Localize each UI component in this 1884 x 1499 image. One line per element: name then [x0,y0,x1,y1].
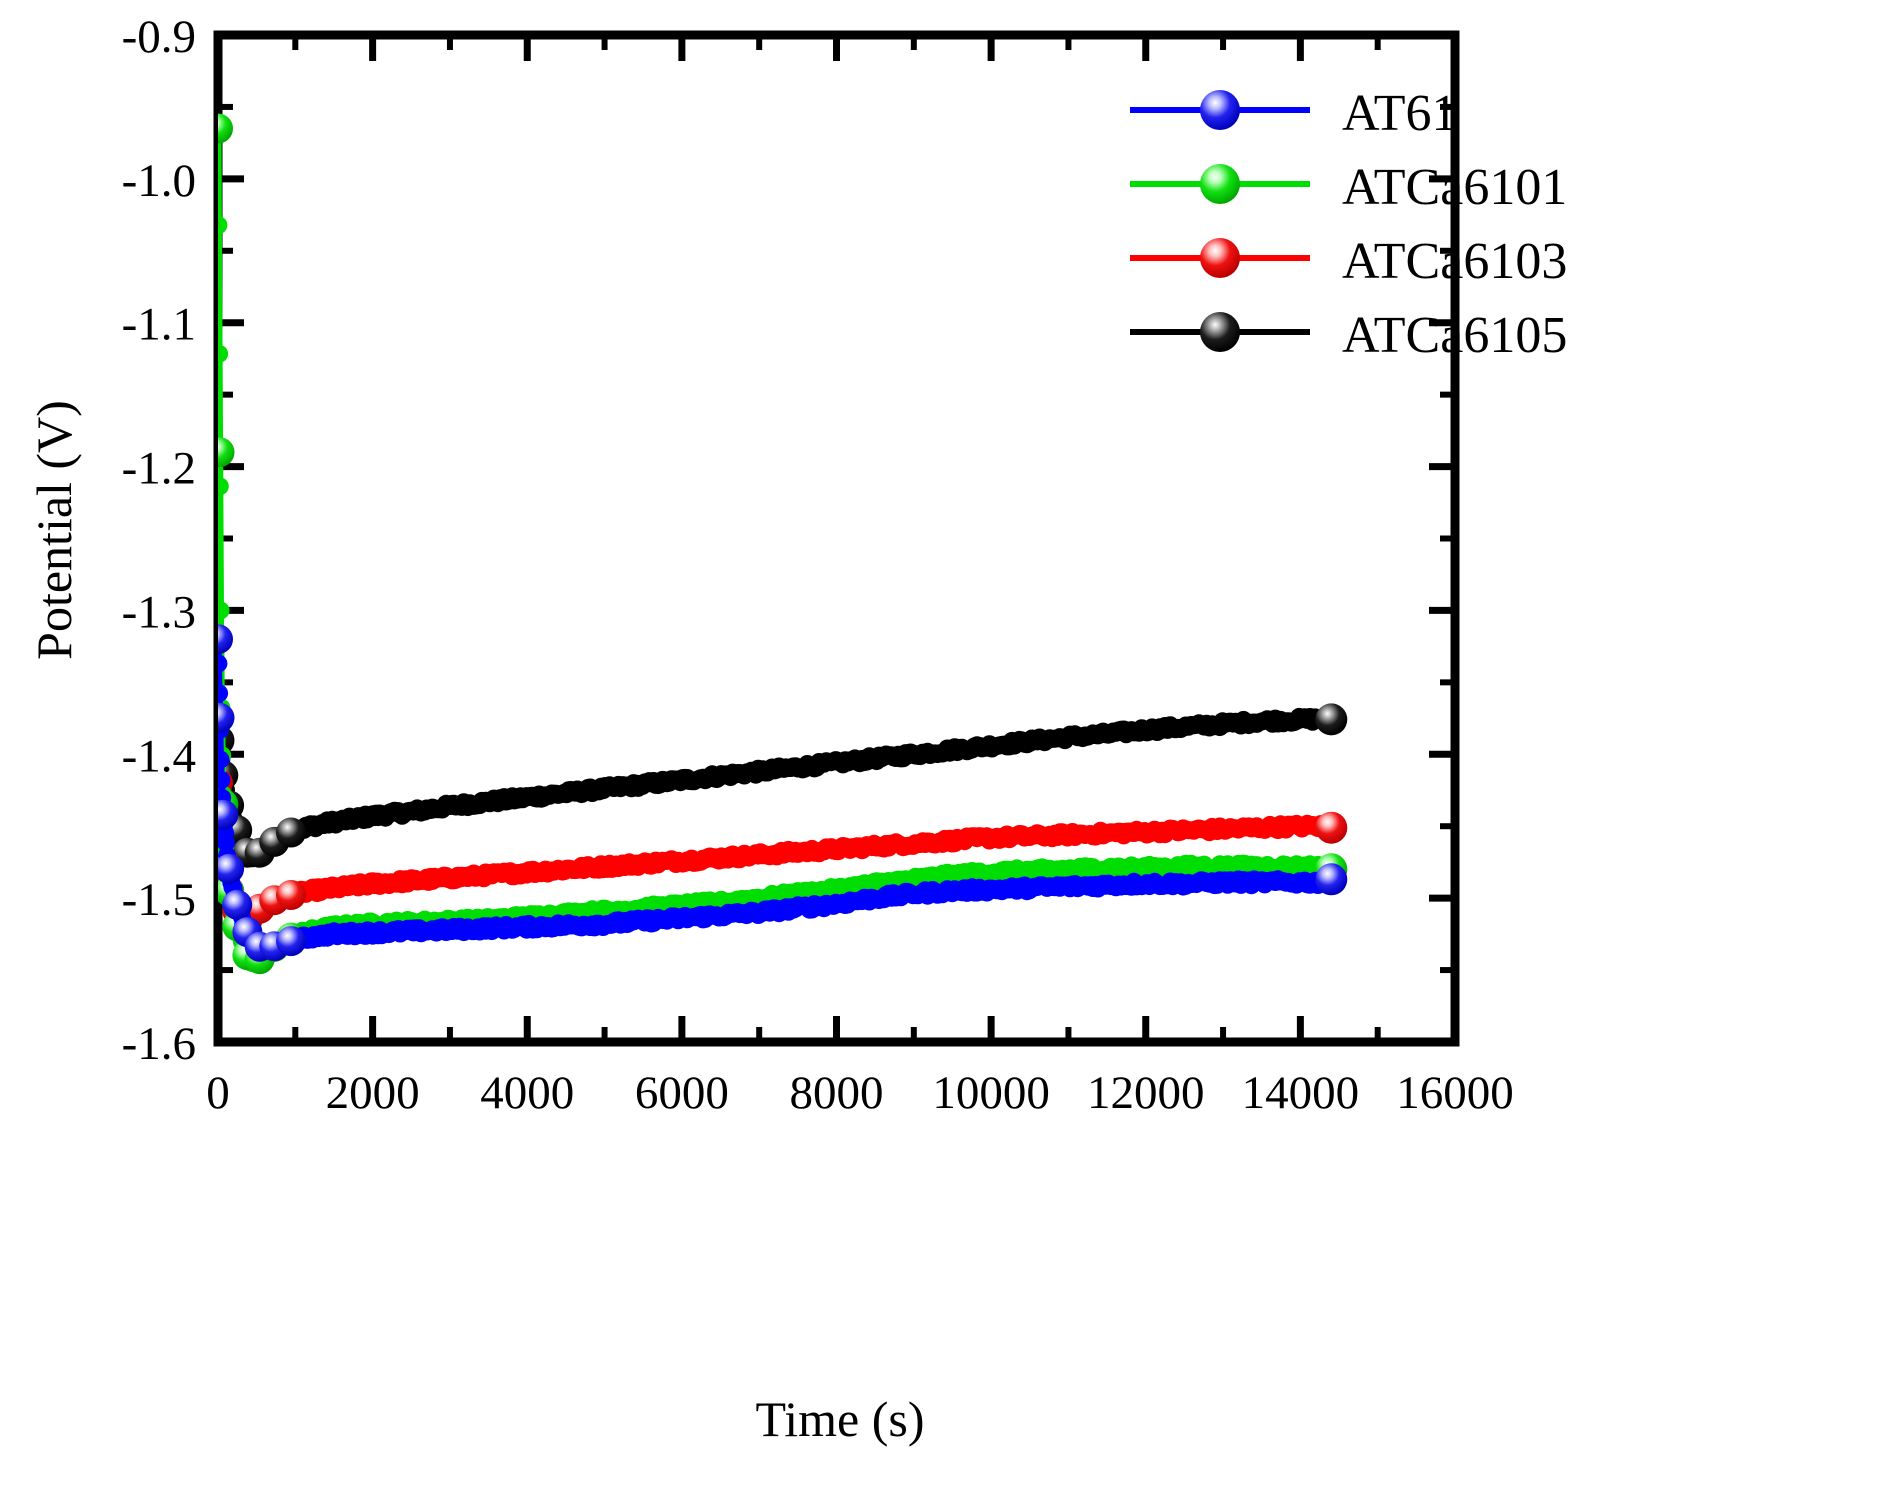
y-tick-label: -1.1 [122,299,196,351]
x-tick-label: 16000 [1396,1067,1514,1119]
x-tick-label: 2000 [326,1067,420,1119]
x-tick-label: 4000 [480,1067,574,1119]
y-tick-label: -1.6 [122,1018,196,1070]
y-tick-label: -1.5 [122,874,196,926]
y-axis-title: Potential (V) [25,230,83,830]
y-tick-label: -1.3 [122,586,196,638]
legend-label: ATCa6105 [1342,307,1567,364]
x-tick-label: 0 [206,1067,230,1119]
x-tick-label: 8000 [790,1067,884,1119]
y-tick-label: -0.9 [122,11,196,63]
x-tick-label: 10000 [932,1067,1050,1119]
legend-marker-icon [1200,238,1240,278]
legend-label: ATCa6103 [1342,233,1567,290]
x-axis-title: Time (s) [0,1390,1680,1448]
legend-marker-icon [1200,312,1240,352]
legend-label: ATCa6101 [1342,159,1567,216]
legend-marker-icon [1200,90,1240,130]
y-tick-label: -1.0 [122,155,196,207]
potential-vs-time-plot: 0200040006000800010000120001400016000-0.… [0,0,1884,1499]
legend-marker-icon [1200,164,1240,204]
chart-figure: 0200040006000800010000120001400016000-0.… [0,0,1884,1499]
y-tick-label: -1.2 [122,443,196,495]
y-tick-label: -1.4 [122,730,196,782]
legend-label: AT61 [1342,85,1458,142]
x-tick-label: 14000 [1242,1067,1360,1119]
x-tick-label: 12000 [1087,1067,1205,1119]
x-tick-label: 6000 [635,1067,729,1119]
